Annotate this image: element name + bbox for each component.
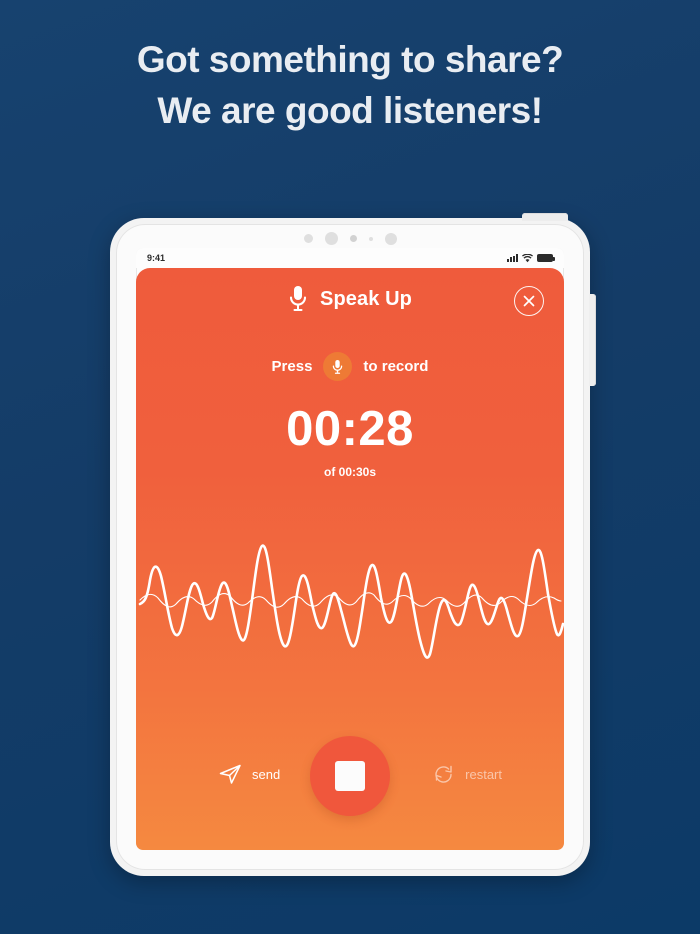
sensor-dot-icon	[350, 235, 357, 242]
microphone-icon	[332, 359, 343, 375]
speak-up-app: Speak Up Press	[136, 268, 564, 850]
battery-icon	[537, 254, 553, 262]
wifi-icon	[522, 254, 533, 263]
timer-total: of 00:30s	[136, 465, 564, 479]
stop-icon	[335, 761, 365, 791]
proximity-dot-icon	[385, 233, 397, 245]
send-icon	[218, 762, 243, 787]
restart-label: restart	[465, 767, 502, 782]
record-mic-button[interactable]	[323, 352, 352, 381]
close-button[interactable]	[514, 286, 544, 316]
headline-line-1: Got something to share?	[0, 34, 700, 85]
app-header: Speak Up	[136, 268, 564, 330]
led-dot-icon	[369, 237, 373, 241]
playback-controls: send restart	[136, 736, 564, 820]
app-title-group: Speak Up	[288, 285, 412, 313]
status-time: 9:41	[147, 253, 165, 263]
prompt-suffix: to record	[363, 358, 428, 375]
stop-recording-button[interactable]	[310, 736, 390, 816]
primary-wave	[140, 546, 563, 658]
prompt-prefix: Press	[272, 358, 313, 375]
send-label: send	[252, 767, 280, 782]
app-title: Speak Up	[320, 288, 412, 311]
camera-dot-icon	[304, 234, 313, 243]
restart-button[interactable]: restart	[431, 762, 502, 787]
page-title: Got something to share? We are good list…	[0, 34, 700, 136]
microphone-icon	[288, 285, 308, 313]
tablet-device: 9:41	[110, 218, 590, 876]
headline-line-2: We are good listeners!	[0, 85, 700, 136]
status-icons	[507, 254, 553, 263]
close-icon	[523, 295, 535, 307]
signal-icon	[507, 254, 518, 262]
audio-waveform	[136, 518, 564, 678]
tablet-screen: 9:41	[136, 248, 564, 850]
power-button[interactable]	[522, 213, 568, 221]
status-bar: 9:41	[136, 248, 564, 268]
waveform-svg	[136, 518, 564, 678]
sensor-array	[110, 232, 590, 245]
volume-button[interactable]	[589, 294, 596, 386]
promo-page: Got something to share? We are good list…	[0, 0, 700, 934]
speaker-dot-icon	[325, 232, 338, 245]
record-prompt: Press to record	[136, 352, 564, 381]
timer-elapsed: 00:28	[136, 403, 564, 455]
send-button[interactable]: send	[218, 762, 280, 787]
restart-icon	[431, 762, 456, 787]
